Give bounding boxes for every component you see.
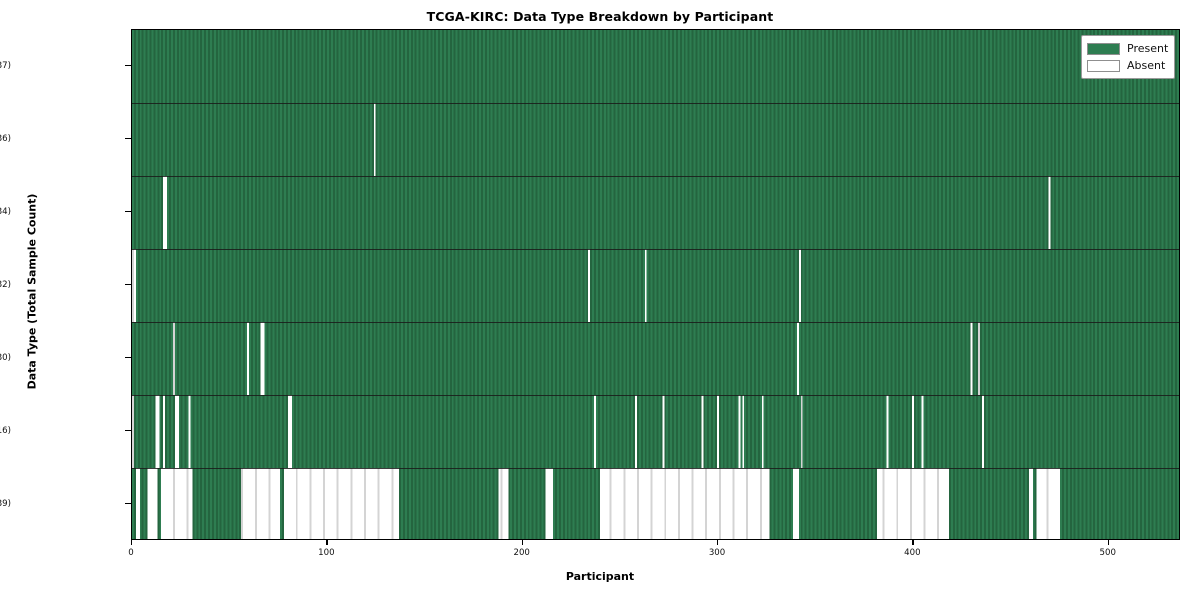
- heatmap-row: [132, 468, 1179, 540]
- heatmap-row-divider: [132, 249, 1179, 250]
- x-axis-tick-label: 300: [709, 548, 725, 558]
- heatmap-plot-area: [131, 29, 1180, 540]
- x-axis-tick: [717, 540, 718, 545]
- x-axis-tick-label: 100: [318, 548, 334, 558]
- legend-item-present: Present: [1087, 40, 1168, 57]
- chart-title: TCGA-KIRC: Data Type Breakdown by Partic…: [0, 9, 1200, 24]
- heatmap-row-divider: [132, 103, 1179, 104]
- y-axis-label: miR (516): [0, 426, 11, 436]
- heatmap-row: [132, 103, 1179, 176]
- y-axis-label: Clinical (536): [0, 134, 11, 144]
- heatmap-row-canvas: [132, 322, 1179, 395]
- heatmap-row: [132, 395, 1179, 468]
- heatmap-row-canvas: [132, 249, 1179, 322]
- heatmap-row: [132, 249, 1179, 322]
- x-axis-title: Participant: [0, 570, 1200, 583]
- y-axis-label: mRNA (530): [0, 353, 11, 363]
- legend-label-absent: Absent: [1127, 60, 1165, 71]
- y-axis-title: Data Type (Total Sample Count): [26, 162, 39, 422]
- y-axis-label: CN (534): [0, 207, 11, 217]
- y-axis-label: Methylation (532): [0, 280, 11, 290]
- x-axis-tick-label: 0: [128, 548, 133, 558]
- heatmap-row: [132, 322, 1179, 395]
- heatmap-row-divider: [132, 322, 1179, 323]
- heatmap-row-divider: [132, 468, 1179, 469]
- legend-item-absent: Absent: [1087, 57, 1168, 74]
- figure-canvas: TCGA-KIRC: Data Type Breakdown by Partic…: [0, 0, 1200, 600]
- legend-swatch-absent: [1087, 60, 1120, 72]
- x-axis-tick: [522, 540, 523, 545]
- heatmap-row-canvas: [132, 30, 1179, 103]
- y-axis-label: MAF (339): [0, 499, 11, 509]
- x-axis-tick: [326, 540, 327, 545]
- x-axis-tick-label: 200: [513, 548, 529, 558]
- x-axis-tick: [912, 540, 913, 545]
- x-axis-tick-label: 400: [904, 548, 920, 558]
- x-axis-tick: [1108, 540, 1109, 545]
- heatmap-row: [132, 176, 1179, 249]
- x-axis-tick-label: 500: [1100, 548, 1116, 558]
- heatmap-row-canvas: [132, 468, 1179, 540]
- heatmap-row-canvas: [132, 103, 1179, 176]
- y-axis-label: BCR (537): [0, 61, 11, 71]
- heatmap-row: [132, 30, 1179, 103]
- chart-legend[interactable]: Present Absent: [1081, 35, 1175, 79]
- legend-swatch-present: [1087, 43, 1120, 55]
- heatmap-row-divider: [132, 395, 1179, 396]
- x-axis-tick: [131, 540, 132, 545]
- heatmap-row-divider: [132, 176, 1179, 177]
- heatmap-row-canvas: [132, 395, 1179, 468]
- heatmap-row-canvas: [132, 176, 1179, 249]
- legend-label-present: Present: [1127, 43, 1168, 54]
- heatmap-grid: [132, 30, 1179, 539]
